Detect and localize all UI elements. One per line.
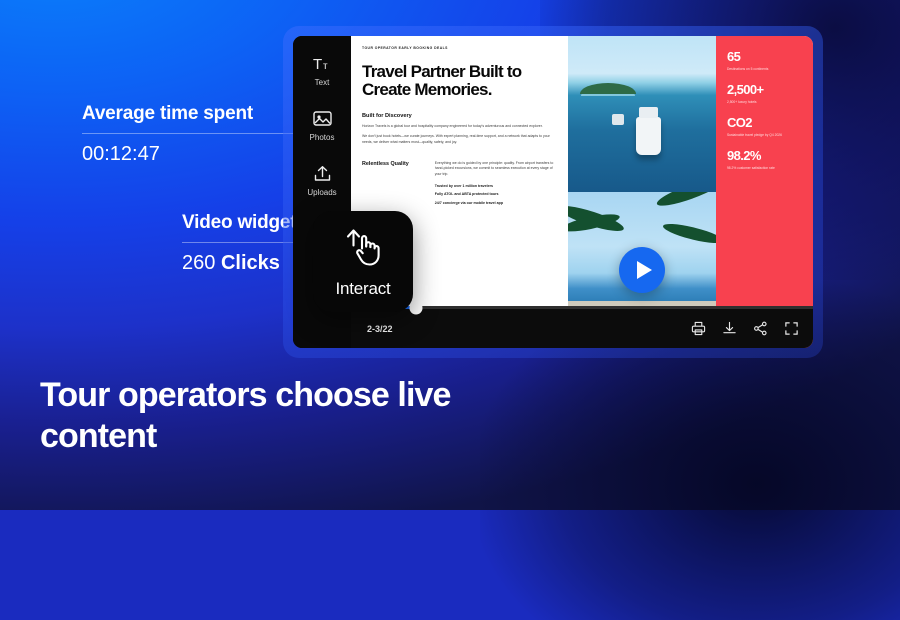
cruise-ship-graphic (636, 117, 661, 154)
stat-number: 98.2% (727, 149, 803, 162)
document-paragraph: Horizon Travels is a global tour and hos… (362, 124, 558, 130)
stat-caption: 2,500+ luxury hotels (727, 100, 803, 105)
stat-value: 00:12:47 (82, 134, 294, 166)
stat-number: CO2 (727, 116, 803, 129)
stat-caption: Sustainable travel pledge by Q4 2026 (727, 133, 803, 138)
play-triangle-icon (637, 261, 652, 279)
stat-number: 260 (182, 252, 215, 274)
document-eyebrow: TOUR OPERATOR EARLY BOOKING DEALS (362, 46, 558, 50)
document-stats-panel: 65 Destinations on 5 continents 2,500+ 2… (716, 36, 813, 348)
share-icon[interactable] (753, 321, 768, 336)
upload-icon (313, 162, 332, 184)
stat-block: CO2 Sustainable travel pledge by Q4 2026 (727, 116, 803, 138)
svg-text:T: T (313, 56, 322, 71)
document-section-two: Relentless Quality Everything we do is g… (362, 161, 558, 209)
document-bullet-list: Trusted by over 1 million travelers Full… (435, 184, 558, 205)
stat-number: 65 (727, 50, 803, 63)
document-headline: Travel Partner Built to Create Memories. (362, 63, 558, 100)
sidebar-item-label: Text (315, 78, 330, 87)
fullscreen-icon[interactable] (784, 321, 799, 336)
sidebar-item-uploads[interactable]: Uploads (293, 162, 351, 197)
document-section2-title: Relentless Quality (362, 161, 427, 209)
svg-text:т: т (323, 61, 328, 71)
player-control-icons (691, 321, 799, 336)
page-indicator: 2-3/22 (367, 324, 393, 334)
boat-graphic (612, 114, 624, 125)
sidebar-item-text[interactable]: T т Text (293, 52, 351, 87)
sidebar-item-label: Uploads (307, 188, 336, 197)
stat-average-time-spent: Average time spent 00:12:47 (82, 103, 294, 166)
document-paragraph: We don't just book hotels—we curate jour… (362, 134, 558, 145)
interact-card[interactable]: Interact (313, 211, 413, 312)
play-button[interactable] (619, 247, 665, 293)
photo-icon (313, 107, 332, 129)
stat-caption: Destinations on 5 continents (727, 67, 803, 72)
text-icon: T т (313, 52, 332, 74)
stat-caption: 98.2% customer satisfaction rate (727, 166, 803, 171)
stat-unit: Clicks (221, 252, 280, 274)
document-photo-column (568, 36, 716, 348)
list-item: 24/7 concierge via our mobile travel app (435, 201, 558, 205)
document-page: TOUR OPERATOR EARLY BOOKING DEALS Travel… (351, 36, 813, 348)
download-icon[interactable] (722, 321, 737, 336)
stat-block: 98.2% 98.2% customer satisfaction rate (727, 149, 803, 171)
interact-card-label: Interact (335, 279, 390, 299)
palm-frond (654, 192, 716, 210)
sidebar-item-label: Photos (310, 133, 335, 142)
stat-number: 2,500+ (727, 83, 803, 96)
swipe-up-hand-icon (339, 224, 387, 275)
list-item: Fully ATOL and ABTA protected tours (435, 192, 558, 196)
photo-ocean-cruise (568, 36, 716, 192)
player-controls: 2-3/22 (351, 306, 813, 348)
document-section-title: Built for Discovery (362, 113, 558, 119)
page-headline: Tour operators choose live content (40, 375, 560, 458)
document-section2-body: Everything we do is guided by one princi… (435, 161, 558, 209)
stat-label: Average time spent (82, 103, 294, 133)
print-icon[interactable] (691, 321, 706, 336)
sidebar-item-photos[interactable]: Photos (293, 107, 351, 142)
document-paragraph: Everything we do is guided by one princi… (435, 161, 558, 178)
list-item: Trusted by over 1 million travelers (435, 184, 558, 188)
palm-frond (661, 220, 716, 247)
stat-block: 65 Destinations on 5 continents (727, 50, 803, 72)
stat-block: 2,500+ 2,500+ luxury hotels (727, 83, 803, 105)
